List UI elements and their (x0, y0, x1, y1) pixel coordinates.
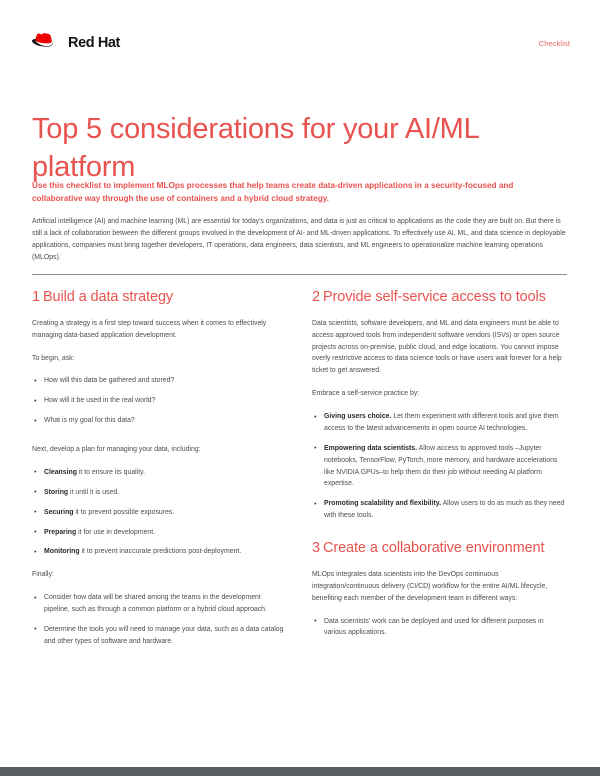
section-1-plan-list: Cleansing it to ensure its quality. Stor… (32, 467, 286, 558)
page-header: Red Hat Checklist (32, 28, 570, 58)
header-divider (32, 274, 567, 275)
document-page: Red Hat Checklist Top 5 considerations f… (0, 0, 600, 776)
list-item: How will it be used in the real world? (32, 395, 286, 407)
lede-paragraph: Use this checklist to implement MLOps pr… (32, 180, 565, 205)
body-columns: 1Build a data strategy Creating a strate… (32, 288, 567, 659)
section-3-list: Data scientists' work can be deployed an… (312, 616, 566, 640)
section-2-heading: 2Provide self-service access to tools (312, 288, 566, 307)
list-item-lead: Empowering data scientists. (324, 445, 417, 452)
list-item: Monitoring it to prevent inaccurate pred… (32, 546, 286, 558)
section-1-finally-list: Consider how data will be shared among t… (32, 592, 286, 648)
list-item: Cleansing it to ensure its quality. (32, 467, 286, 479)
list-item: Preparing it for use in development. (32, 527, 286, 539)
section-3-heading: 3Create a collaborative environment (312, 539, 566, 558)
list-item-lead: Promoting scalability and flexibility. (324, 500, 441, 507)
list-item: Giving users choice. Let them experiment… (312, 411, 566, 435)
section-3-intro: MLOps integrates data scientists into th… (312, 569, 566, 605)
list-item-lead: Securing (44, 509, 73, 516)
section-1-ask-lead: To begin, ask: (32, 353, 286, 365)
list-item-rest: it to prevent possible exposures. (73, 509, 174, 516)
list-item: Empowering data scientists. Allow access… (312, 443, 566, 491)
list-item-lead: Storing (44, 489, 68, 496)
list-item-lead: Giving users choice. (324, 413, 391, 420)
list-item: Storing it until it is used. (32, 487, 286, 499)
list-item-lead: Cleansing (44, 469, 77, 476)
list-item: Securing it to prevent possible exposure… (32, 507, 286, 519)
intro-paragraph: Artificial intelligence (AI) and machine… (32, 216, 567, 264)
page-title: Top 5 considerations for your AI/ML plat… (32, 111, 532, 185)
list-item-rest: it to prevent inaccurate predictions pos… (80, 548, 242, 555)
section-1-heading: 1Build a data strategy (32, 288, 286, 307)
section-1-number: 1 (32, 289, 40, 305)
section-2-number: 2 (312, 289, 320, 305)
left-column: 1Build a data strategy Creating a strate… (32, 288, 286, 659)
red-hat-logo: Red Hat (32, 33, 120, 54)
list-item-rest: it to ensure its quality. (77, 469, 145, 476)
section-1-intro: Creating a strategy is a first step towa… (32, 318, 286, 342)
list-item: How will this data be gathered and store… (32, 375, 286, 387)
section-1-title: Build a data strategy (43, 289, 173, 305)
list-item: Consider how data will be shared among t… (32, 592, 286, 616)
document-type-label: Checklist (539, 39, 570, 48)
section-3-title: Create a collaborative environment (323, 540, 544, 556)
list-item: What is my goal for this data? (32, 415, 286, 427)
list-item: Data scientists' work can be deployed an… (312, 616, 566, 640)
list-item-rest: it until it is used. (68, 489, 119, 496)
red-hat-fedora-icon (32, 33, 62, 54)
section-1-finally-lead: Finally: (32, 569, 286, 581)
section-2-practice-lead: Embrace a self-service practice by: (312, 388, 566, 400)
section-1-plan-lead: Next, develop a plan for managing your d… (32, 444, 286, 456)
section-2-practice-list: Giving users choice. Let them experiment… (312, 411, 566, 522)
list-item: Determine the tools you will need to man… (32, 624, 286, 648)
red-hat-wordmark: Red Hat (68, 36, 120, 51)
list-item-lead: Monitoring (44, 548, 80, 555)
list-item: Promoting scalability and flexibility. A… (312, 498, 566, 522)
list-item-rest: it for use in development. (76, 529, 155, 536)
section-2-title: Provide self-service access to tools (323, 289, 546, 305)
section-2-intro: Data scientists, software developers, an… (312, 318, 566, 377)
footer-bar (0, 767, 600, 776)
section-3-number: 3 (312, 540, 320, 556)
list-item-lead: Preparing (44, 529, 76, 536)
section-1-ask-list: How will this data be gathered and store… (32, 375, 286, 427)
right-column: 2Provide self-service access to tools Da… (312, 288, 566, 650)
